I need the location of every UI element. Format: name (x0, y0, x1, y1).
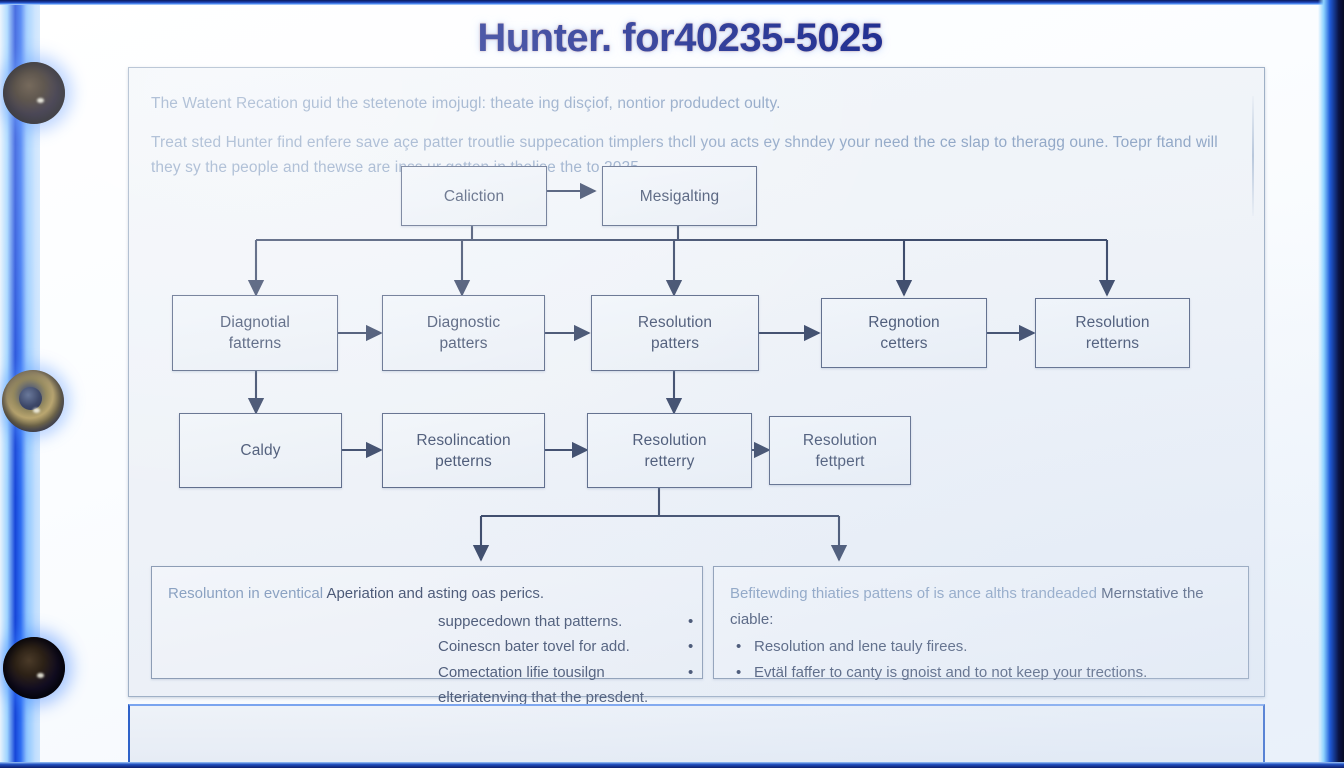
list-item: Evtäl faffer to canty is gnoist and to n… (752, 660, 1232, 686)
summary-panel-right-list: Resolution and lene tauly firees. Evtäl … (730, 634, 1232, 685)
flow-node-label-line1: Resolution (803, 430, 877, 451)
flow-node-label-line2: fatterns (229, 333, 282, 354)
flow-node-label-line2: patters (439, 333, 487, 354)
grommet-bottom-icon (3, 637, 65, 699)
flow-node-label: Caliction (444, 186, 504, 207)
flow-node-resolution-retterns[interactable]: Resolution retterns (1035, 298, 1190, 368)
flow-node-label-line1: Caldy (240, 440, 280, 461)
flow-node-regnotion-cetters[interactable]: Regnotion cetters (821, 298, 987, 368)
list-item: Comectation lifie tousilgn elteriatenvin… (436, 660, 686, 711)
flow-node-label-line1: Resolution (1075, 312, 1149, 333)
summary-panel-left-lead: Resolunton in eventical Aperiation and a… (168, 581, 686, 607)
flow-node-caliction[interactable]: Caliction (401, 166, 547, 226)
flow-node-label-line2: petterns (435, 451, 492, 472)
flow-node-diagnostic-patters[interactable]: Diagnostic patters (382, 295, 545, 371)
flow-node-label-line2: patters (651, 333, 699, 354)
flow-node-caldy[interactable]: Caldy (179, 413, 342, 488)
flow-node-label-line1: Regnotion (868, 312, 940, 333)
summary-panel-right: Befitewding thiaties pattens of is ance … (713, 566, 1249, 679)
flow-node-label-line1: Resolution (638, 312, 712, 333)
content-card: The Watent Recation guid the stetenote i… (128, 67, 1265, 697)
next-section-card (128, 704, 1265, 764)
screen-bezel-top (0, 0, 1344, 5)
flow-node-resolincation-petterns[interactable]: Resolincation petterns (382, 413, 545, 488)
flow-node-label-line1: Resolution (632, 430, 706, 451)
list-item: Coinescn bater tovel for add. (436, 634, 686, 660)
flow-node-diagnotial-fatterns[interactable]: Diagnotial fatterns (172, 295, 338, 371)
flow-node-resolution-fettpert[interactable]: Resolution fettpert (769, 416, 911, 485)
flow-node-label-line1: Diagnostic (427, 312, 500, 333)
flow-node-label: Mesigalting (640, 186, 720, 207)
grommet-middle-icon (2, 370, 64, 432)
lead-muted-text: Resolunton in eventical (168, 585, 323, 602)
summary-panel-right-lead: Befitewding thiaties pattens of is ance … (730, 581, 1232, 632)
screen-bezel-bottom (0, 762, 1344, 768)
flow-node-label-line2: fettpert (815, 451, 864, 472)
page-title: Hunter. for40235-5025 (40, 16, 1320, 61)
flow-node-label-line1: Resolincation (416, 430, 510, 451)
flow-node-label-line2: retterry (645, 451, 695, 472)
summary-panel-left: Resolunton in eventical Aperiation and a… (151, 566, 703, 679)
document-page: Hunter. for40235-5025 The Watent Recatio… (40, 4, 1320, 766)
flow-node-resolution-patters[interactable]: Resolution patters (591, 295, 759, 371)
flow-node-label-line2: retterns (1086, 333, 1139, 354)
list-item: suppecedown that patterns. (436, 609, 686, 635)
summary-panel-left-list: suppecedown that patterns. Coinescn bate… (168, 609, 686, 711)
flow-node-label-line2: cetters (880, 333, 927, 354)
flow-node-mesigalting[interactable]: Mesigalting (602, 166, 757, 226)
lead-muted-text: Befitewding thiaties pattens of is ance … (730, 585, 1097, 602)
list-item: Resolution and lene tauly firees. (752, 634, 1232, 660)
screen-bezel-right (1318, 0, 1344, 768)
flow-node-label-line1: Diagnotial (220, 312, 290, 333)
grommet-top-icon (3, 62, 65, 124)
flow-node-resolution-retterry[interactable]: Resolution retterry (587, 413, 752, 488)
photographed-screen: Hunter. for40235-5025 The Watent Recatio… (0, 0, 1344, 768)
lead-tail-text: Aperiation and asting oas perics. (326, 585, 544, 602)
